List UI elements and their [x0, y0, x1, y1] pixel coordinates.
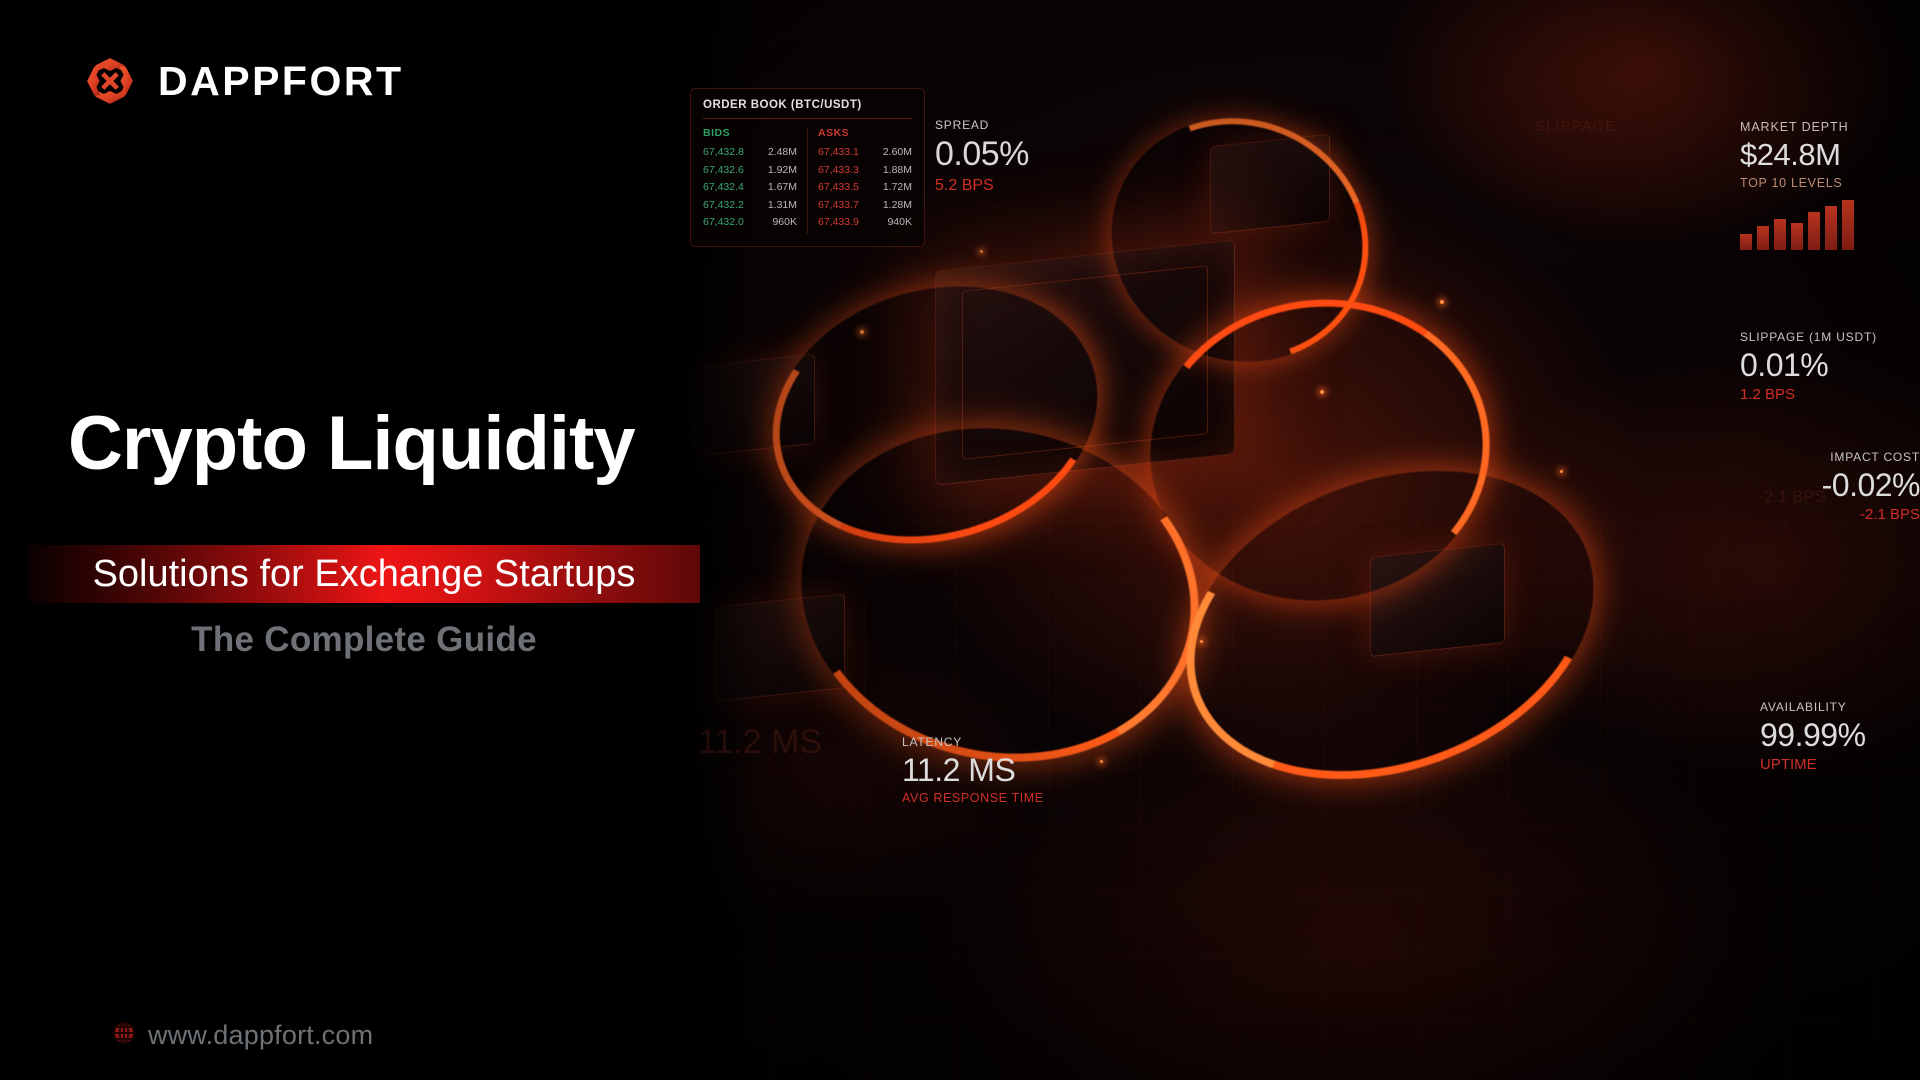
market-depth-bar-chart: [1740, 200, 1915, 250]
order-book-row: 67,432.6 1.92M: [703, 164, 797, 176]
impact-cost-bps: -2.1 BPS: [1760, 506, 1920, 523]
order-book-divider: [703, 118, 912, 119]
availability-panel: AVAILABILITY 99.99% UPTIME: [1760, 700, 1915, 773]
order-book-row: 67,433.1 2.60M: [818, 146, 912, 158]
bid-price: 67,432.0: [703, 216, 744, 228]
depth-bar: [1842, 200, 1854, 250]
latency-panel: LATENCY 11.2 MS AVG RESPONSE TIME: [902, 735, 1162, 805]
ask-size: 940K: [887, 216, 912, 228]
ask-price: 67,433.5: [818, 181, 859, 193]
depth-bar: [1740, 234, 1752, 250]
bid-size: 1.92M: [768, 164, 797, 176]
impact-cost-label: IMPACT COST: [1760, 450, 1920, 464]
latency-sub: AVG RESPONSE TIME: [902, 791, 1162, 805]
bid-price: 67,432.6: [703, 164, 744, 176]
ask-price: 67,433.3: [818, 164, 859, 176]
spread-bps: 5.2 BPS: [935, 177, 1029, 195]
impact-cost-value: -0.02%: [1760, 467, 1920, 504]
market-depth-value: $24.8M: [1740, 137, 1915, 173]
depth-bar: [1808, 212, 1820, 250]
bid-price: 67,432.4: [703, 181, 744, 193]
ask-price: 67,433.1: [818, 146, 859, 158]
order-book-row: 67,432.8 2.48M: [703, 146, 797, 158]
market-depth-label: MARKET DEPTH: [1740, 120, 1915, 134]
brand-wordmark: DAPPFORT: [158, 61, 404, 102]
slippage-bps: 1.2 BPS: [1740, 386, 1920, 403]
ask-size: 2.60M: [883, 146, 912, 158]
depth-bar: [1774, 219, 1786, 250]
slippage-metric-panel: SLIPPAGE (1M USDT) 0.01% 1.2 BPS: [1740, 330, 1920, 403]
spread-label: SPREAD: [935, 118, 1029, 132]
ask-size: 1.28M: [883, 199, 912, 211]
headline-highlight-band: Solutions for Exchange Startups: [28, 545, 700, 603]
footer-website[interactable]: www.dappfort.com: [112, 1020, 373, 1051]
impact-cost-panel: IMPACT COST -0.02% -2.1 BPS: [1760, 450, 1920, 523]
order-book-row: 67,432.2 1.31M: [703, 199, 797, 211]
order-book-panel: ORDER BOOK (BTC/USDT) BIDS 67,432.8 2.48…: [690, 88, 925, 247]
spread-metric-panel: SPREAD 0.05% 5.2 BPS: [935, 118, 1029, 195]
asks-column: ASKS 67,433.1 2.60M 67,433.3 1.88M 67,43…: [807, 127, 912, 234]
bid-size: 960K: [772, 216, 797, 228]
bid-price: 67,432.2: [703, 199, 744, 211]
order-book-row: 67,433.9 940K: [818, 216, 912, 228]
availability-value: 99.99%: [1760, 717, 1915, 754]
bid-size: 2.48M: [768, 146, 797, 158]
order-book-row: 67,432.4 1.67M: [703, 181, 797, 193]
market-depth-panel: MARKET DEPTH $24.8M TOP 10 LEVELS: [1740, 120, 1915, 250]
order-book-row: 67,433.3 1.88M: [818, 164, 912, 176]
left-content-panel: DAPPFORT Crypto Liquidity Solutions for …: [0, 0, 700, 1080]
brand-lockup[interactable]: DAPPFORT: [84, 55, 404, 107]
headline-subtext: Solutions for Exchange Startups: [93, 553, 636, 596]
ask-size: 1.72M: [883, 181, 912, 193]
ghost-label-slippage: SLIPPAGE: [1535, 118, 1616, 135]
slippage-label: SLIPPAGE (1M USDT): [1740, 330, 1920, 344]
depth-bar: [1791, 223, 1803, 250]
poster-canvas: SLIPPAGE -2.1 BPS 11.2 MS ORDER BOOK (BT…: [0, 0, 1920, 1080]
order-book-row: 67,432.0 960K: [703, 216, 797, 228]
page-subtitle: The Complete Guide: [28, 620, 700, 660]
availability-sub: UPTIME: [1760, 756, 1915, 773]
order-book-row: 67,433.7 1.28M: [818, 199, 912, 211]
order-book-row: 67,433.5 1.72M: [818, 181, 912, 193]
latency-label: LATENCY: [902, 735, 1162, 749]
page-title: Crypto Liquidity: [68, 405, 708, 483]
spread-value: 0.05%: [935, 135, 1029, 174]
ask-size: 1.88M: [883, 164, 912, 176]
bids-column: BIDS 67,432.8 2.48M 67,432.6 1.92M 67,43…: [703, 127, 797, 234]
ask-price: 67,433.9: [818, 216, 859, 228]
bid-size: 1.31M: [768, 199, 797, 211]
globe-icon: [112, 1021, 136, 1050]
slippage-value: 0.01%: [1740, 347, 1920, 384]
latency-value: 11.2 MS: [902, 752, 1162, 789]
depth-bar: [1825, 206, 1837, 250]
website-url: www.dappfort.com: [148, 1020, 373, 1051]
order-book-title: ORDER BOOK (BTC/USDT): [703, 99, 912, 111]
ghost-label-latency: 11.2 MS: [698, 723, 822, 762]
market-depth-sub: TOP 10 LEVELS: [1740, 176, 1915, 190]
bid-price: 67,432.8: [703, 146, 744, 158]
bids-header: BIDS: [703, 127, 797, 139]
depth-bar: [1757, 226, 1769, 250]
ask-price: 67,433.7: [818, 199, 859, 211]
bid-size: 1.67M: [768, 181, 797, 193]
asks-header: ASKS: [818, 127, 912, 139]
dappfort-pinwheel-logo-icon: [84, 55, 136, 107]
availability-label: AVAILABILITY: [1760, 700, 1915, 714]
hero-artwork: SLIPPAGE -2.1 BPS 11.2 MS ORDER BOOK (BT…: [680, 0, 1920, 1080]
